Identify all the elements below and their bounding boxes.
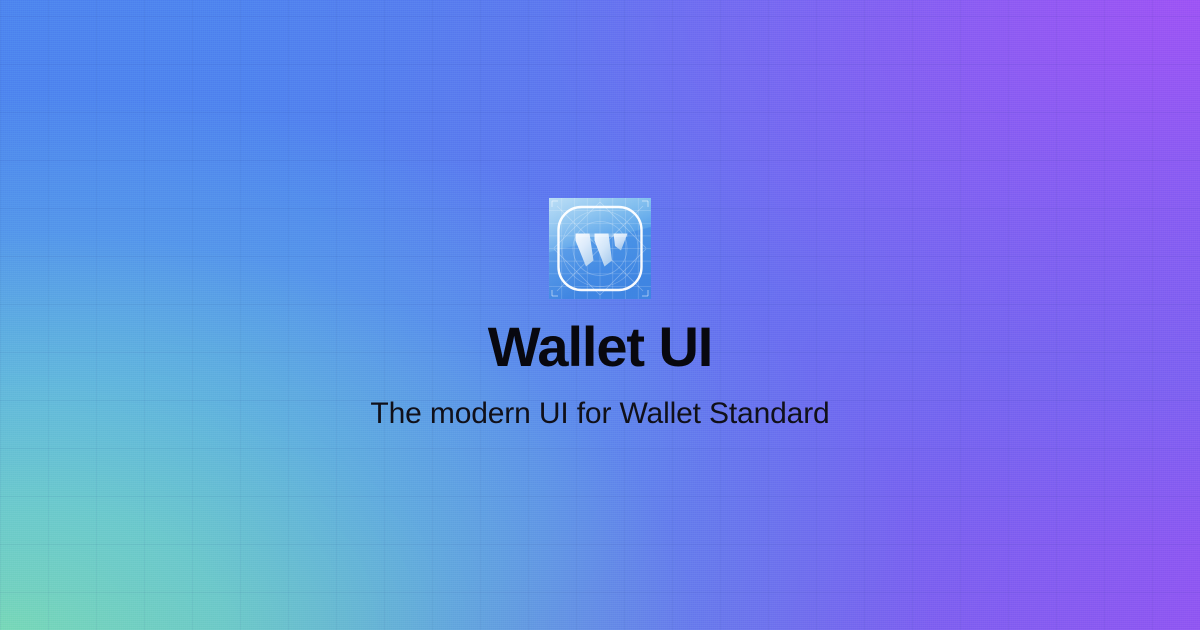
card-content: Wallet UI The modern UI for Wallet Stand… (0, 0, 1200, 630)
wallet-ui-logo-icon (549, 198, 651, 299)
og-banner-card: Wallet UI The modern UI for Wallet Stand… (0, 0, 1200, 630)
page-title: Wallet UI (488, 319, 713, 375)
page-subtitle: The modern UI for Wallet Standard (370, 397, 829, 432)
